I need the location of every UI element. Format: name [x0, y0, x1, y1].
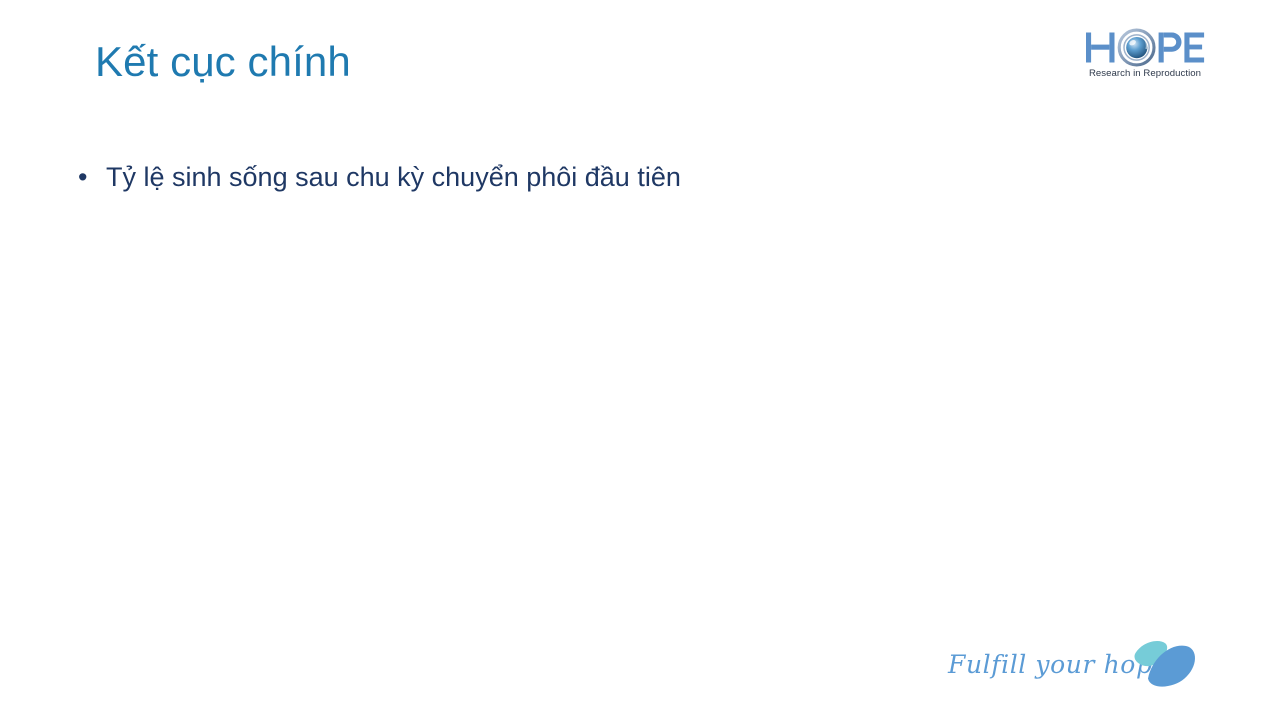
page-title: Kết cục chính	[95, 38, 351, 86]
hope-wordmark-icon	[1083, 26, 1207, 68]
list-item: • Tỷ lệ sinh sống sau chu kỳ chuyển phôi…	[78, 160, 1118, 196]
bullet-list: • Tỷ lệ sinh sống sau chu kỳ chuyển phôi…	[78, 160, 1118, 196]
petals-logo-icon	[1118, 636, 1200, 692]
presentation-slide: Kết cục chính • Tỷ lệ sinh sống sau chu …	[0, 0, 1280, 720]
bullet-marker-icon: •	[78, 160, 106, 196]
bullet-text: Tỷ lệ sinh sống sau chu kỳ chuyển phôi đ…	[106, 160, 1118, 196]
hope-logo: Research in Reproduction	[1083, 26, 1207, 86]
hope-logo-tagline: Research in Reproduction	[1083, 68, 1207, 80]
fulfill-your-hope-lockup: Fulfill your hope	[948, 636, 1200, 692]
